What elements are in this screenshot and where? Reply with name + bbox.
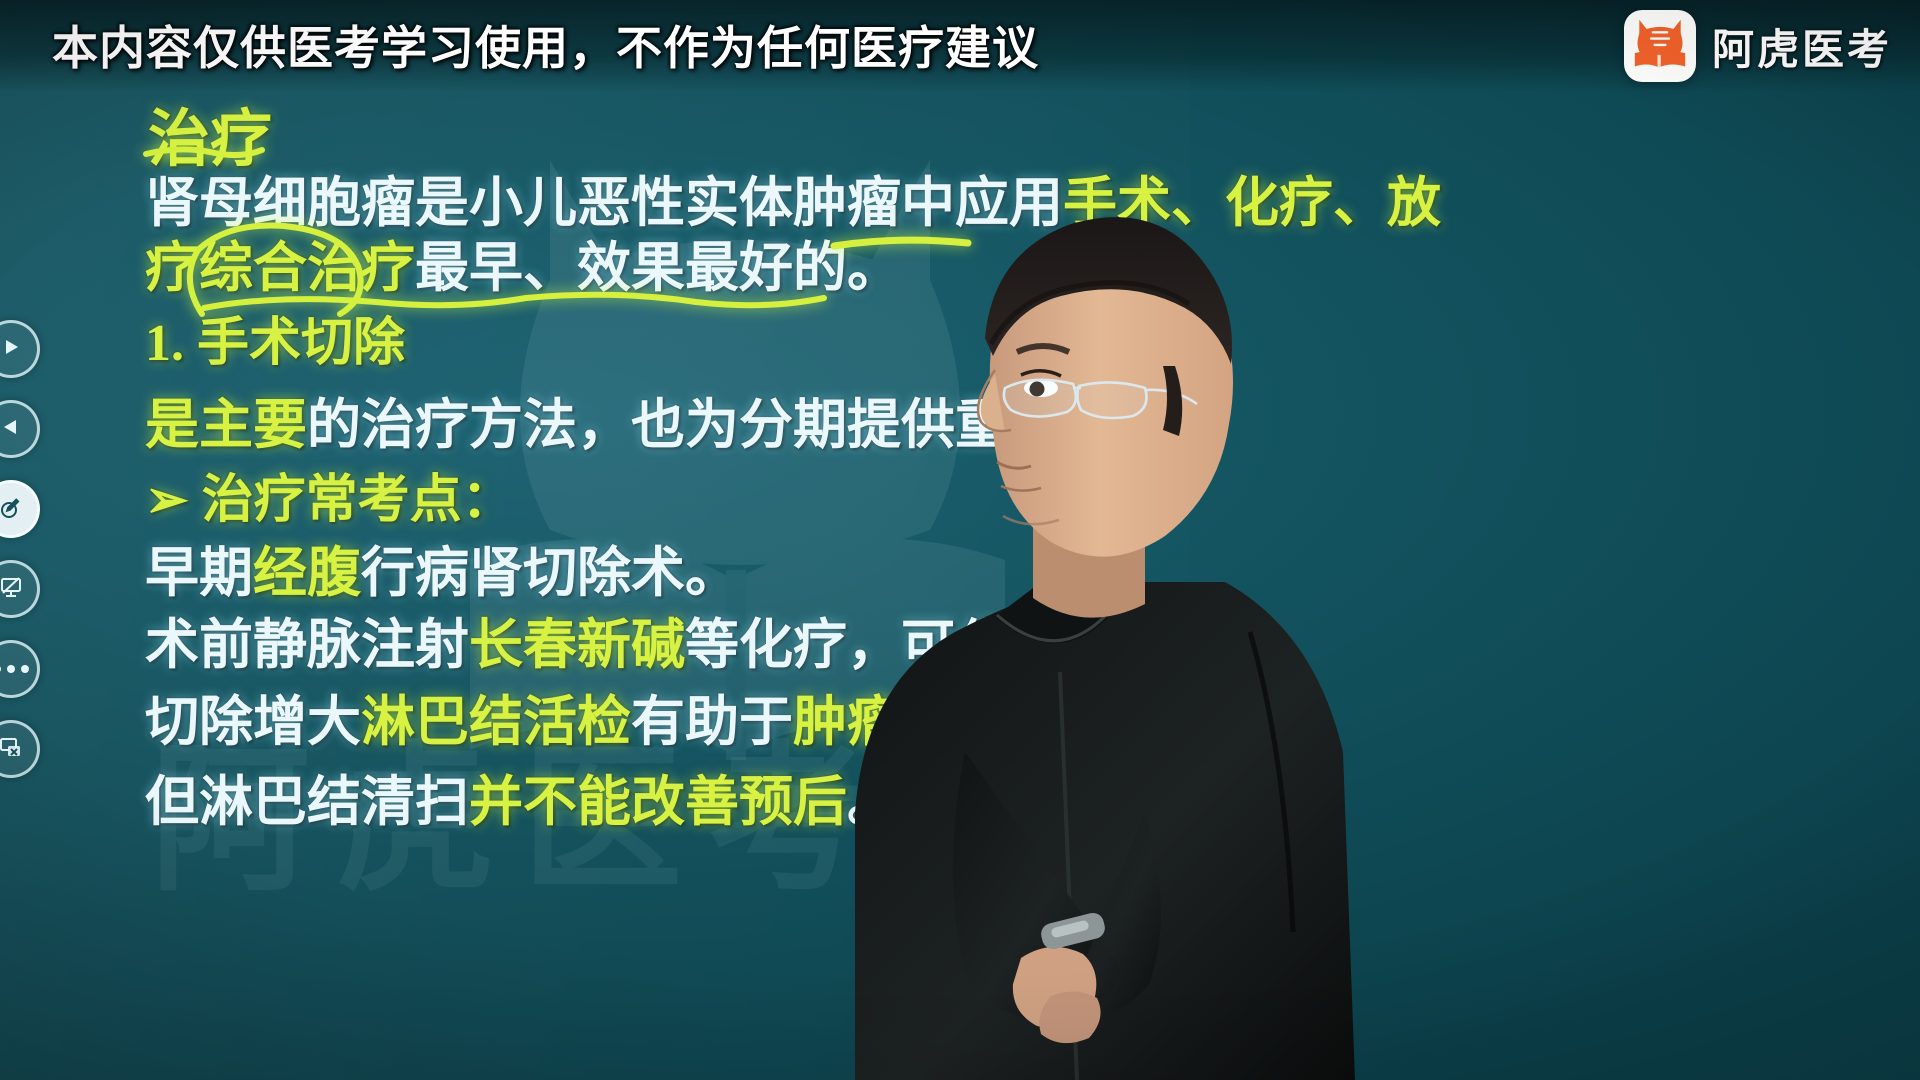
play-triangle-right-icon: [1, 337, 21, 362]
next-slide-button[interactable]: [0, 320, 40, 378]
brand-mark: [1624, 10, 1696, 82]
screen-icon: [0, 575, 23, 604]
end-show-button[interactable]: [0, 720, 40, 778]
end-show-icon: [0, 735, 23, 764]
presentation-controls-rail[interactable]: [0, 320, 44, 778]
brand-logo: 阿虎医考: [1624, 10, 1892, 82]
disclaimer-text: 本内容仅供医考学习使用，不作为任何医疗建议: [52, 16, 1039, 80]
video-player-frame: 阿虎医考 治疗 肾母细胞瘤是小儿恶性实体肿瘤中应用手术、化疗、放 疗综合治疗最早…: [0, 0, 1920, 1080]
ellipsis-icon: [0, 665, 29, 673]
tiger-book-logo-icon: [1633, 17, 1687, 76]
previous-slide-button[interactable]: [0, 400, 40, 458]
presenter-figure: [845, 112, 1365, 1080]
pen-tools-button[interactable]: [0, 480, 40, 538]
pen-icon: [0, 495, 23, 524]
screen-blank-button[interactable]: [0, 560, 40, 618]
brand-name: 阿虎医考: [1712, 16, 1892, 77]
play-triangle-left-icon: [1, 417, 21, 442]
more-options-button[interactable]: [0, 640, 40, 698]
